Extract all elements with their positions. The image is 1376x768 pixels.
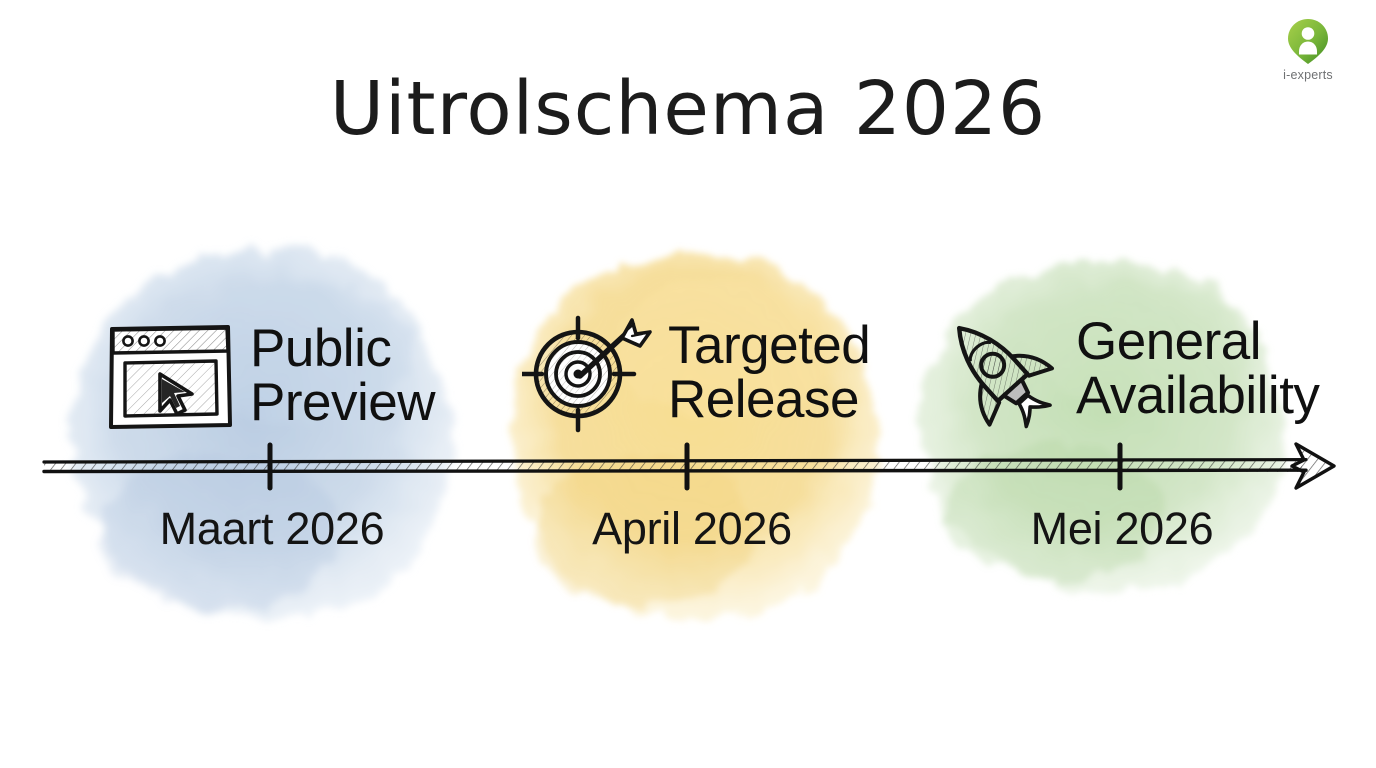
milestone-general-availability[interactable]: General Availability: [930, 308, 1319, 430]
target-bullseye-arrow-icon: [522, 312, 654, 434]
infographic-canvas: i-experts Uitrolschema 2026: [0, 0, 1376, 768]
date-label-mei: Mei 2026: [1031, 503, 1214, 555]
date-label-april: April 2026: [592, 503, 792, 555]
browser-window-cursor-icon: [104, 315, 236, 437]
timeline-axis: [0, 430, 1376, 505]
rocket-icon: [930, 308, 1062, 430]
milestone-targeted-release[interactable]: Targeted Release: [522, 312, 870, 434]
page-title: Uitrolschema 2026: [0, 72, 1376, 146]
date-label-maart: Maart 2026: [160, 503, 385, 555]
milestone-label: Public Preview: [250, 322, 435, 430]
milestone-public-preview[interactable]: Public Preview: [104, 315, 435, 437]
milestone-label: General Availability: [1076, 315, 1319, 423]
milestone-label: Targeted Release: [668, 319, 870, 427]
location-pin-person-icon: [1286, 18, 1330, 66]
